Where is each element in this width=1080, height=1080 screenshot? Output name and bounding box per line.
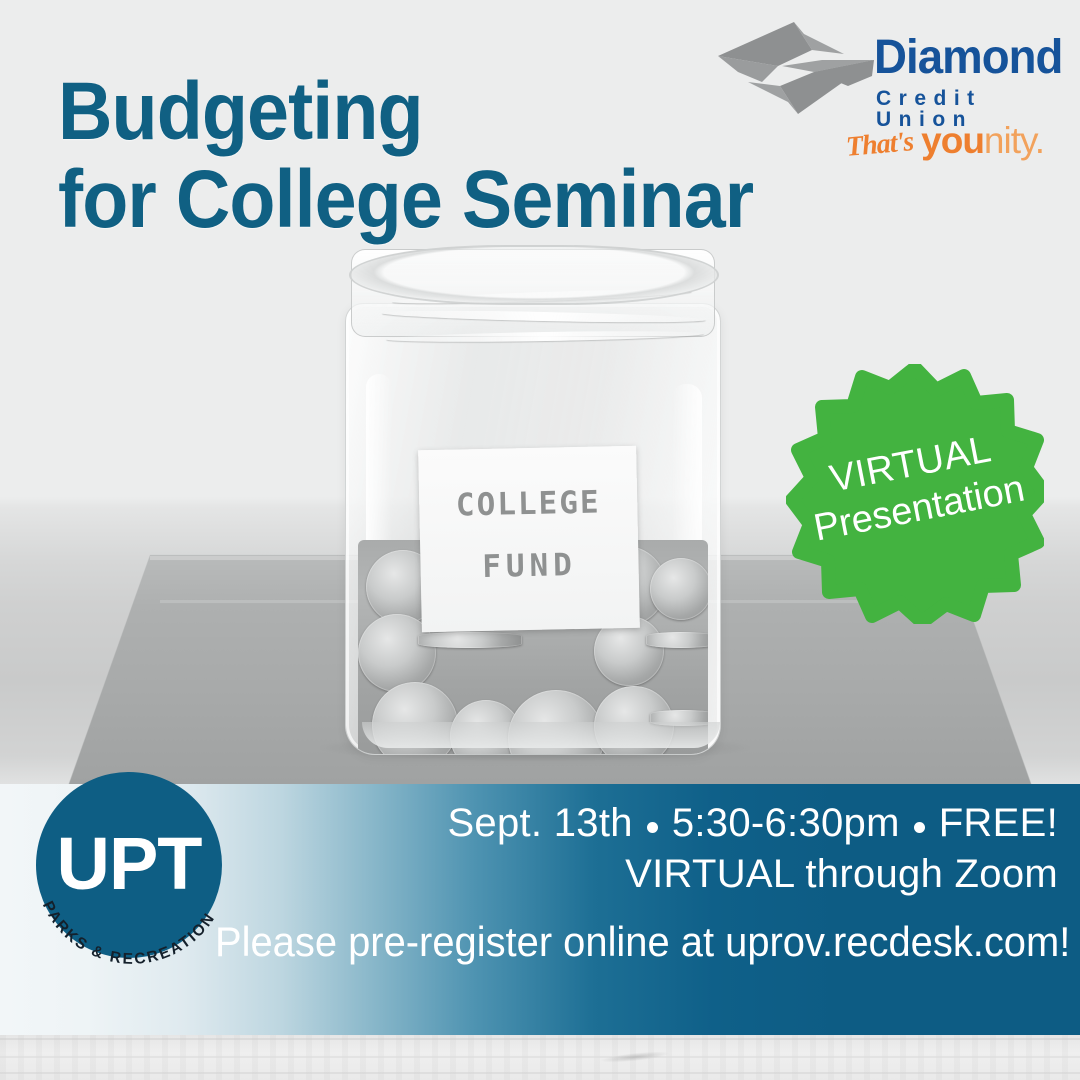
sponsor-tagline: That'syounity. bbox=[846, 120, 1066, 164]
plank-line bbox=[0, 1038, 1080, 1040]
coin bbox=[650, 558, 708, 620]
flyer-canvas: COLLEGE FUND Budgeting for College Semin… bbox=[0, 0, 1080, 1080]
title-line-2: for College Seminar bbox=[58, 156, 822, 244]
coin bbox=[418, 632, 522, 648]
diamond-mark-icon bbox=[716, 20, 876, 116]
coin bbox=[646, 632, 708, 648]
jar-label-line1: COLLEGE bbox=[419, 484, 638, 525]
jar-label: COLLEGE FUND bbox=[418, 446, 640, 633]
tagline-script: That's bbox=[845, 126, 915, 164]
org-arc-text: PARKS & RECREATION bbox=[28, 772, 248, 992]
event-format: VIRTUAL through Zoom bbox=[625, 852, 1058, 896]
tagline-bold: you bbox=[921, 120, 984, 161]
org-arc-label: PARKS & RECREATION bbox=[39, 899, 219, 968]
org-logo: UPT PARKS & RECREATION bbox=[28, 772, 248, 992]
event-details-line: Sept. 13th5:30-6:30pmFREE! bbox=[447, 801, 1058, 847]
event-date: Sept. 13th bbox=[447, 801, 632, 845]
tagline-light: nity. bbox=[984, 120, 1044, 161]
page-title: Budgeting for College Seminar bbox=[58, 68, 822, 244]
event-time: 5:30-6:30pm bbox=[672, 801, 900, 845]
sponsor-logo: Diamond Credit Union That'syounity. bbox=[716, 16, 1066, 156]
virtual-presentation-badge: VIRTUAL Presentation bbox=[786, 364, 1044, 624]
sponsor-name: Diamond bbox=[874, 34, 1062, 82]
bullet-separator bbox=[900, 803, 939, 847]
jar-rim bbox=[349, 245, 719, 305]
plank-line bbox=[0, 1072, 1080, 1074]
event-price: FREE! bbox=[939, 801, 1058, 845]
registration-note: Please pre-register online at uprov.recd… bbox=[215, 919, 1070, 965]
jar-base bbox=[362, 722, 720, 748]
title-line-1: Budgeting bbox=[58, 68, 822, 156]
jar-thread bbox=[382, 309, 706, 325]
bullet-separator bbox=[633, 803, 672, 847]
jar-label-line2: FUND bbox=[420, 546, 639, 587]
plank-line bbox=[0, 1056, 1080, 1058]
